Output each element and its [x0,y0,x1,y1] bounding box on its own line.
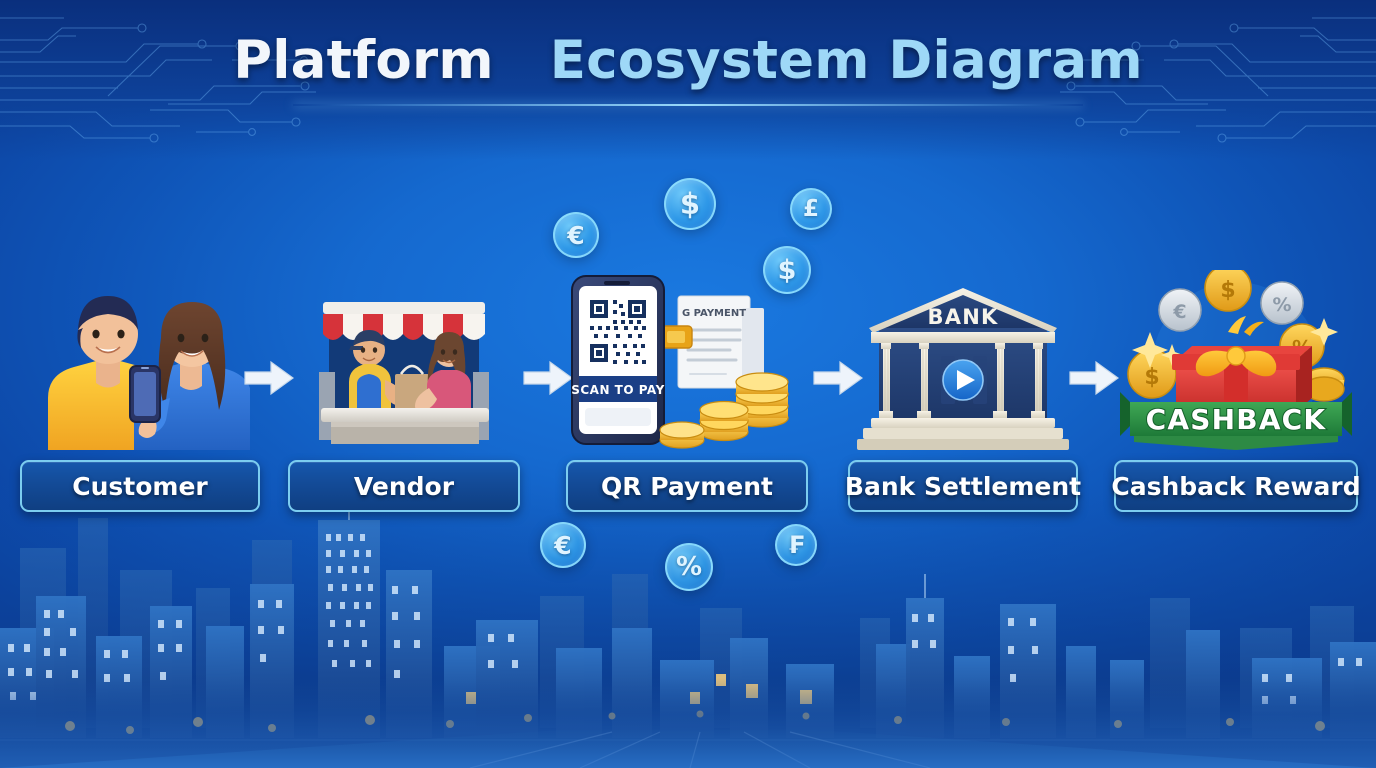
ecosystem-flow: Customer [0,0,1376,768]
flow-label-vendor[interactable]: Vendor [288,460,520,512]
diagram-canvas: Platform Ecosystem Diagram [0,0,1376,768]
flow-label-qr-payment-text: QR Payment [601,472,773,501]
vendor-illustration [301,280,507,452]
flow-label-customer-text: Customer [72,472,208,501]
arrow-right-icon-4 [1068,358,1120,398]
flow-step-bank-settlement[interactable]: BANK [848,268,1078,512]
bank-illustration: BANK [857,284,1069,452]
svg-text:$: $ [1144,365,1159,390]
flow-label-bank-settlement[interactable]: Bank Settlement [848,460,1078,512]
cashback-illustration: € $ % % $ [1116,270,1356,452]
svg-text:CASHBACK: CASHBACK [1146,403,1327,436]
svg-text:€: € [1172,301,1186,323]
flow-label-cashback-reward-text: Cashback Reward [1111,472,1360,501]
svg-text:G PAYMENT: G PAYMENT [682,308,746,319]
svg-text:BANK: BANK [928,305,999,329]
qr-payment-illustration: G PAYMENT [566,268,808,452]
svg-text:SCAN TO PAY: SCAN TO PAY [571,383,665,397]
flow-label-qr-payment[interactable]: QR Payment [566,460,808,512]
flow-label-cashback-reward[interactable]: Cashback Reward [1114,460,1358,512]
customer-illustration [30,272,250,452]
svg-text:%: % [1272,294,1291,316]
flow-step-vendor[interactable]: Vendor [288,268,520,512]
flow-step-qr-payment[interactable]: G PAYMENT [566,268,808,512]
flow-label-customer[interactable]: Customer [20,460,260,512]
flow-step-cashback-reward[interactable]: € $ % % $ [1114,268,1358,512]
flow-label-vendor-text: Vendor [354,472,454,501]
svg-text:$: $ [1220,278,1235,303]
flow-step-customer[interactable]: Customer [20,268,260,512]
flow-label-bank-settlement-text: Bank Settlement [845,472,1081,501]
